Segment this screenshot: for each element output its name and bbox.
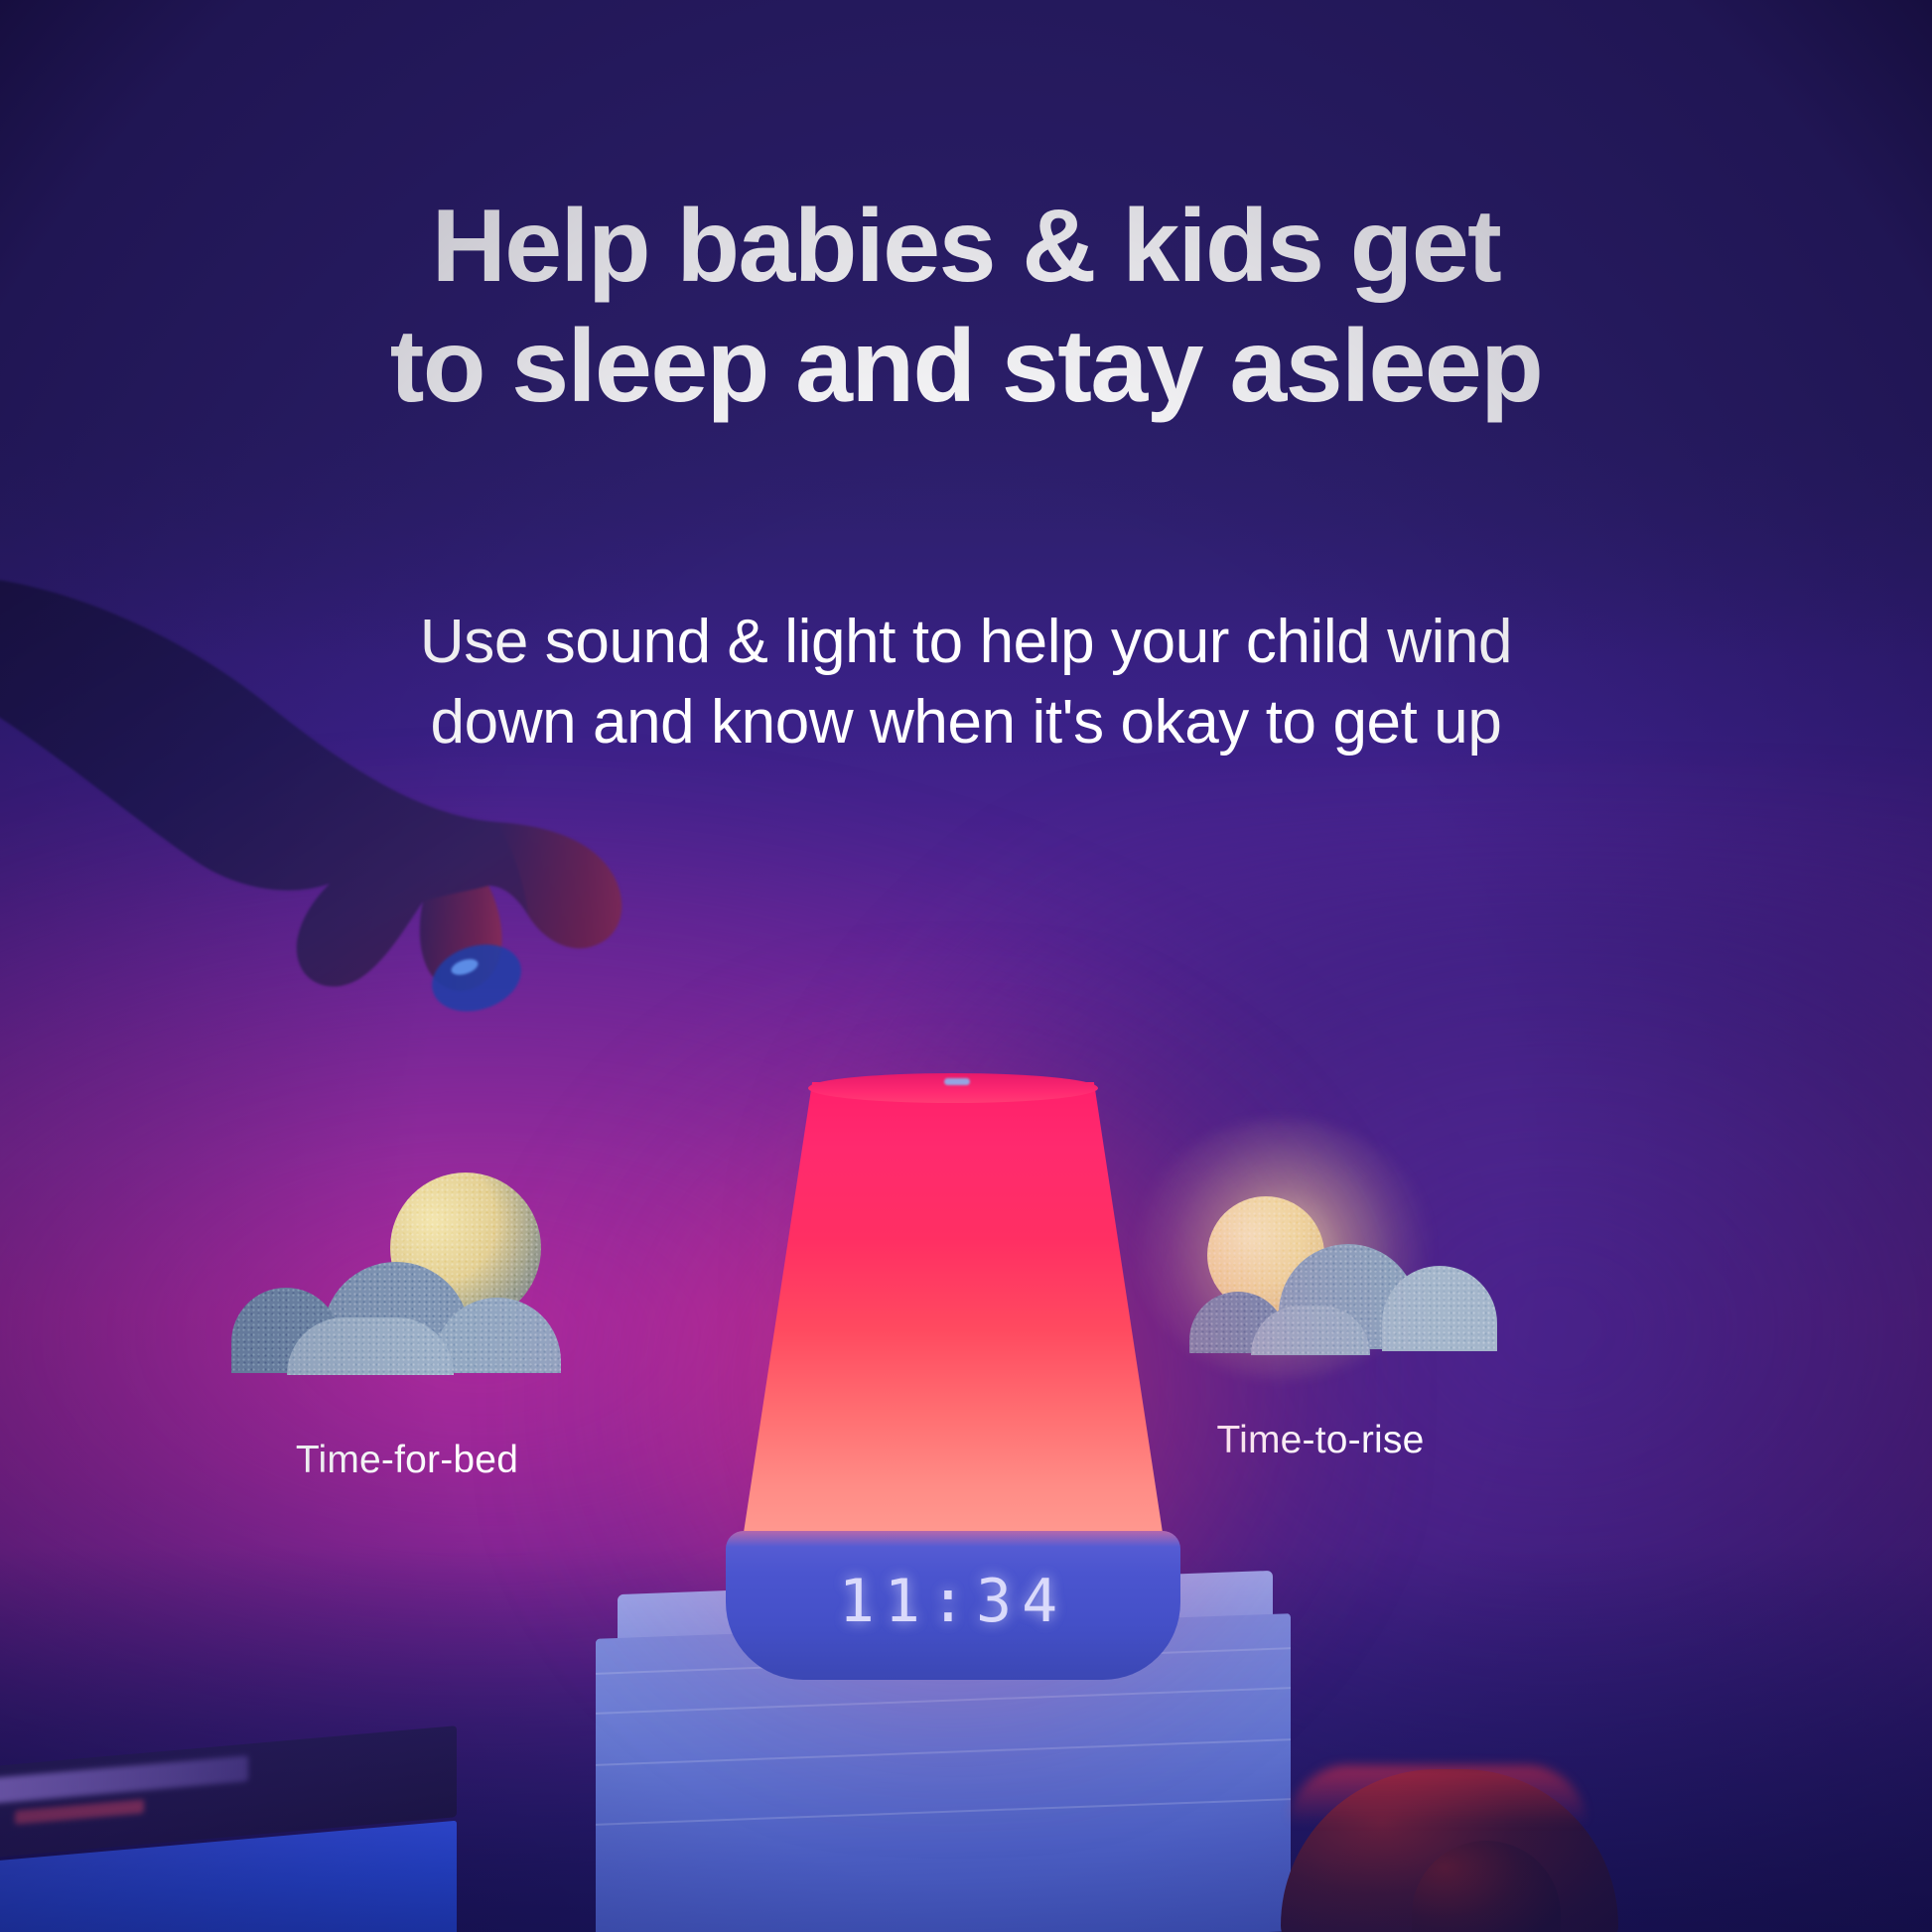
vignette-overlay xyxy=(0,0,1932,1932)
promo-image: Help babies & kids get to sleep and stay… xyxy=(0,0,1932,1932)
